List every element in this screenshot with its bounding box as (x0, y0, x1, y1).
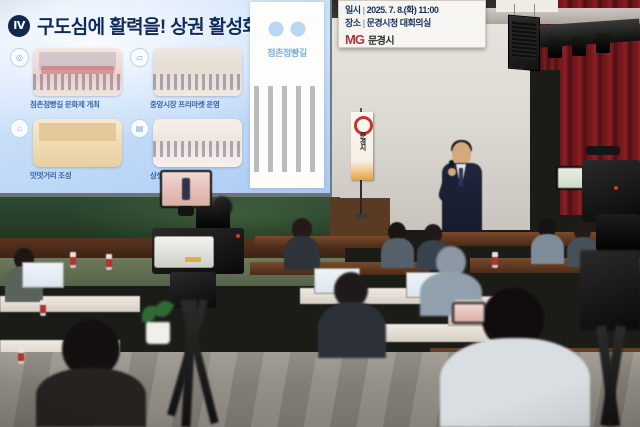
slide-card-1: ◎ 점촌점빵길 문화제 개최 (10, 48, 122, 110)
slide-thumb-1 (33, 48, 122, 96)
foreground-recorder-body (440, 338, 590, 427)
banner-label-date: 일시 (345, 5, 361, 15)
twin-circles-icon (265, 20, 309, 38)
slide-thumb-3 (33, 119, 122, 167)
plant-leaf (153, 297, 175, 320)
water-bottle (18, 348, 24, 364)
banner-row-datetime: 일시|2025. 7. 8.(화) 11:00 (345, 4, 479, 17)
flag-text: 문경시 (357, 132, 367, 150)
mg-logo-mark: MG (345, 34, 364, 46)
slide-card-caption: 맛멋거리 조성 (30, 170, 122, 181)
camera-lens (596, 214, 640, 252)
poster-illustration (254, 86, 320, 172)
attendee-body (284, 236, 320, 270)
slide-thumb-4 (153, 119, 242, 167)
city-flag: 문경시 (351, 112, 373, 180)
stage-lamp-3 (596, 33, 610, 53)
boom-mic-head (212, 196, 232, 218)
slide-card-caption: 중앙시장 프리마켓 운영 (150, 99, 242, 110)
cart-icon: ▱ (130, 48, 149, 67)
slide-card-2: ▱ 중앙시장 프리마켓 운영 (130, 48, 242, 110)
mg-logo-text: 문경시 (368, 32, 394, 47)
stage-lamp-1 (548, 38, 562, 58)
projection-screen: Ⅳ 구도심에 활력을! 상권 활성화 ◎ 점촌점빵길 문화제 개최 ▱ (0, 0, 330, 197)
slide-section-numeral: Ⅳ (8, 15, 30, 37)
foreground-attendee-body (36, 368, 146, 427)
press-conference-photo: Ⅳ 구도심에 활력을! 상권 활성화 ◎ 점촌점빵길 문화제 개최 ▱ (0, 0, 640, 427)
banner-row-venue: 장소|문경시청 대회의실 (345, 17, 479, 30)
attendee-body (531, 234, 564, 264)
attendee-laptop (22, 262, 62, 288)
banner-value-date: 2025. 7. 8.(화) 11:00 (367, 5, 439, 15)
water-bottle (40, 300, 46, 316)
attendee-body (318, 302, 386, 358)
phone-screen-icon (452, 302, 486, 324)
speaker-tie (459, 168, 463, 186)
flip-screen-icon (160, 170, 212, 208)
event-info-banner: 일시|2025. 7. 8.(화) 11:00 장소|문경시청 대회의실 MG … (338, 0, 486, 48)
page-title: 구도심에 활력을! 상권 활성화 (37, 12, 259, 39)
ceiling-soffit-top (496, 0, 558, 12)
banner-logo: MG 문경시 (345, 32, 479, 47)
speaker-grill (512, 20, 536, 60)
camera-shoe-mount (178, 206, 194, 216)
speaker-hand (448, 168, 456, 176)
stage-lamp-2 (572, 36, 586, 56)
loudspeaker-icon (508, 15, 540, 72)
camera-record-led (236, 234, 240, 238)
camera-record-led (614, 186, 618, 190)
home-icon: ⌂ (10, 119, 29, 138)
banner-label-venue: 장소 (345, 18, 361, 28)
slide-thumb-2 (153, 48, 242, 96)
slide-card-3: ⌂ 맛멋거리 조성 (10, 119, 122, 181)
water-bottle (70, 252, 76, 268)
banner-value-venue: 문경시청 대회의실 (367, 18, 431, 28)
potted-plant (140, 300, 176, 344)
flag-base (355, 214, 367, 219)
slide-card-grid: ◎ 점촌점빵길 문화제 개최 ▱ 중앙시장 프리마켓 운영 (10, 48, 250, 190)
plant-pot (146, 322, 170, 344)
slide-card-row-1: ◎ 점촌점빵길 문화제 개최 ▱ 중앙시장 프리마켓 운영 (10, 48, 250, 110)
camera-side-panel (154, 236, 214, 268)
slide-title-row: Ⅳ 구도심에 활력을! 상권 활성화 (8, 12, 259, 39)
slide-card-caption: 점촌점빵길 문화제 개최 (30, 99, 122, 110)
right-video-camera (582, 160, 640, 222)
right-camera-rig (580, 250, 640, 330)
water-bottle (106, 254, 112, 270)
camera-top-handle (586, 146, 620, 155)
attendee-body (381, 238, 414, 268)
slide-card-row-2: ⌂ 맛멋거리 조성 ▤ 상생상가 지원 (10, 119, 250, 181)
water-bottle (492, 252, 498, 268)
slide-poster: 점촌점빵길 (250, 2, 324, 188)
poster-title: 점촌점빵길 (250, 46, 324, 59)
shop-icon: ▤ (130, 119, 149, 138)
camera-icon: ◎ (10, 48, 29, 67)
speaker-head (452, 142, 471, 165)
